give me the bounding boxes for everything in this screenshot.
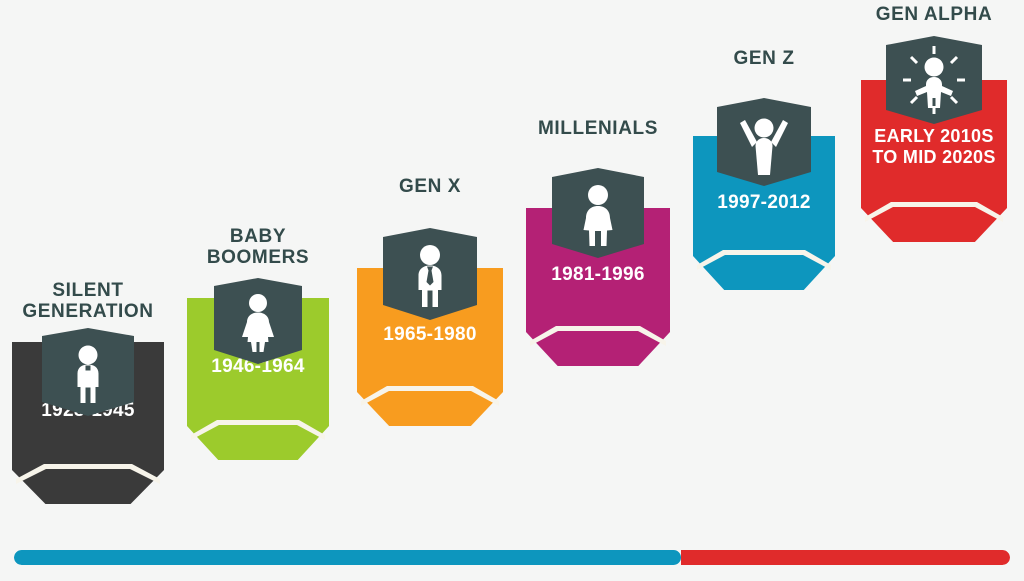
generation-title: SILENT GENERATION xyxy=(0,280,198,323)
timeline-progress-bar[interactable] xyxy=(14,550,1010,565)
generation-years: 1997-2012 xyxy=(693,192,835,214)
progress-segment-future xyxy=(681,550,1010,565)
generation-years: EARLY 2010S TO MID 2020S xyxy=(861,126,1007,167)
generation-badge xyxy=(886,36,982,124)
adult-man-icon xyxy=(42,328,134,416)
progress-segment-past xyxy=(14,550,681,565)
baby-sunburst-icon xyxy=(886,36,982,124)
generation-title: GEN X xyxy=(320,176,540,197)
generation-badge xyxy=(552,168,644,258)
young-adult-icon xyxy=(552,168,644,258)
generation-badge xyxy=(214,278,302,364)
generation-badge xyxy=(383,228,477,320)
person-arms-up-icon xyxy=(717,98,811,186)
generation-title: BABY BOOMERS xyxy=(148,226,368,269)
generation-title: GEN Z xyxy=(654,48,874,69)
card-ribbon-tail xyxy=(187,426,329,460)
generation-badge xyxy=(717,98,811,186)
adult-woman-icon xyxy=(214,278,302,364)
card-ribbon-tail xyxy=(693,256,835,290)
generation-years: 1981-1996 xyxy=(526,264,670,286)
generations-timeline-infographic: SILENT GENERATION 1928-1945 xyxy=(0,0,1024,581)
card-ribbon-tail xyxy=(526,332,670,366)
generation-years: 1965-1980 xyxy=(357,324,503,346)
card-ribbon-tail xyxy=(357,392,503,426)
generation-badge xyxy=(42,328,134,416)
card-ribbon-tail xyxy=(12,470,164,504)
generation-title: GEN ALPHA xyxy=(824,4,1024,25)
businessman-tie-icon xyxy=(383,228,477,320)
generation-title: MILLENIALS xyxy=(488,118,708,139)
card-ribbon-tail xyxy=(861,208,1007,242)
